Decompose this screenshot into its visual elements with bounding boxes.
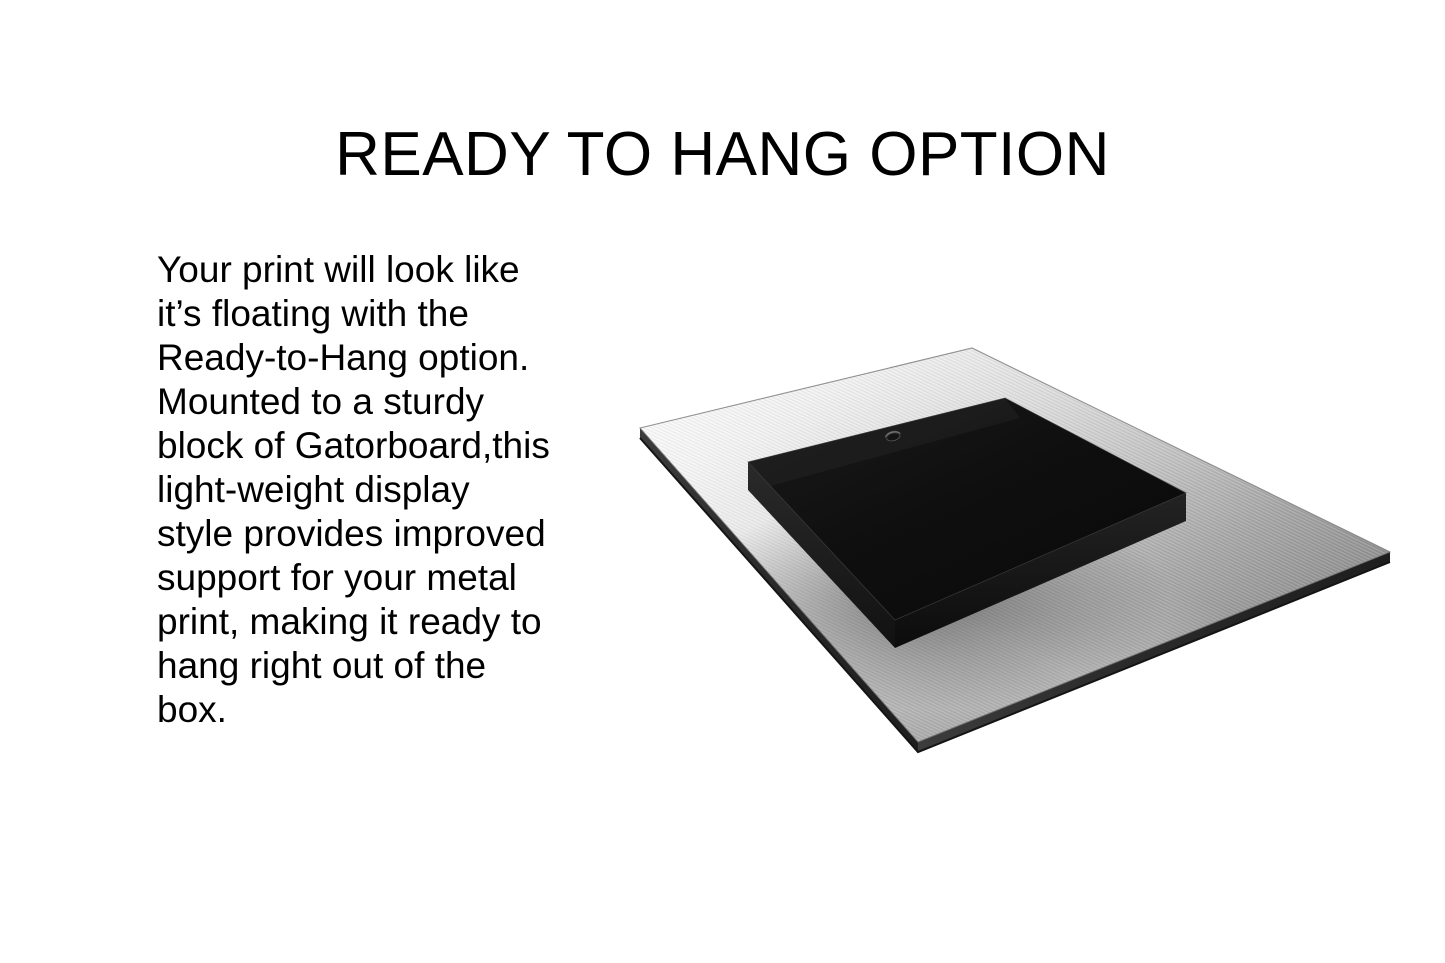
body-copy-line: support for your metal [157, 556, 557, 600]
slide-canvas: READY TO HANG OPTION Your print will loo… [0, 0, 1445, 963]
body-copy-line: light-weight display [157, 468, 557, 512]
body-copy-line: Your print will look like [157, 248, 557, 292]
body-copy-line: box. [157, 688, 557, 732]
product-illustration [600, 300, 1430, 800]
page-title: READY TO HANG OPTION [0, 120, 1445, 190]
body-copy-line: hang right out of the [157, 644, 557, 688]
body-copy-line: print, making it ready to [157, 600, 557, 644]
body-copy-line: Ready-to-Hang option. [157, 336, 557, 380]
body-copy-line: Mounted to a sturdy [157, 380, 557, 424]
body-copy-line: style provides improved [157, 512, 557, 556]
body-copy-line: it’s floating with the [157, 292, 557, 336]
body-copy-line: block of Gatorboard,this [157, 424, 557, 468]
product-photo [600, 300, 1430, 800]
body-copy-block: Your print will look like it’s floating … [157, 248, 557, 732]
